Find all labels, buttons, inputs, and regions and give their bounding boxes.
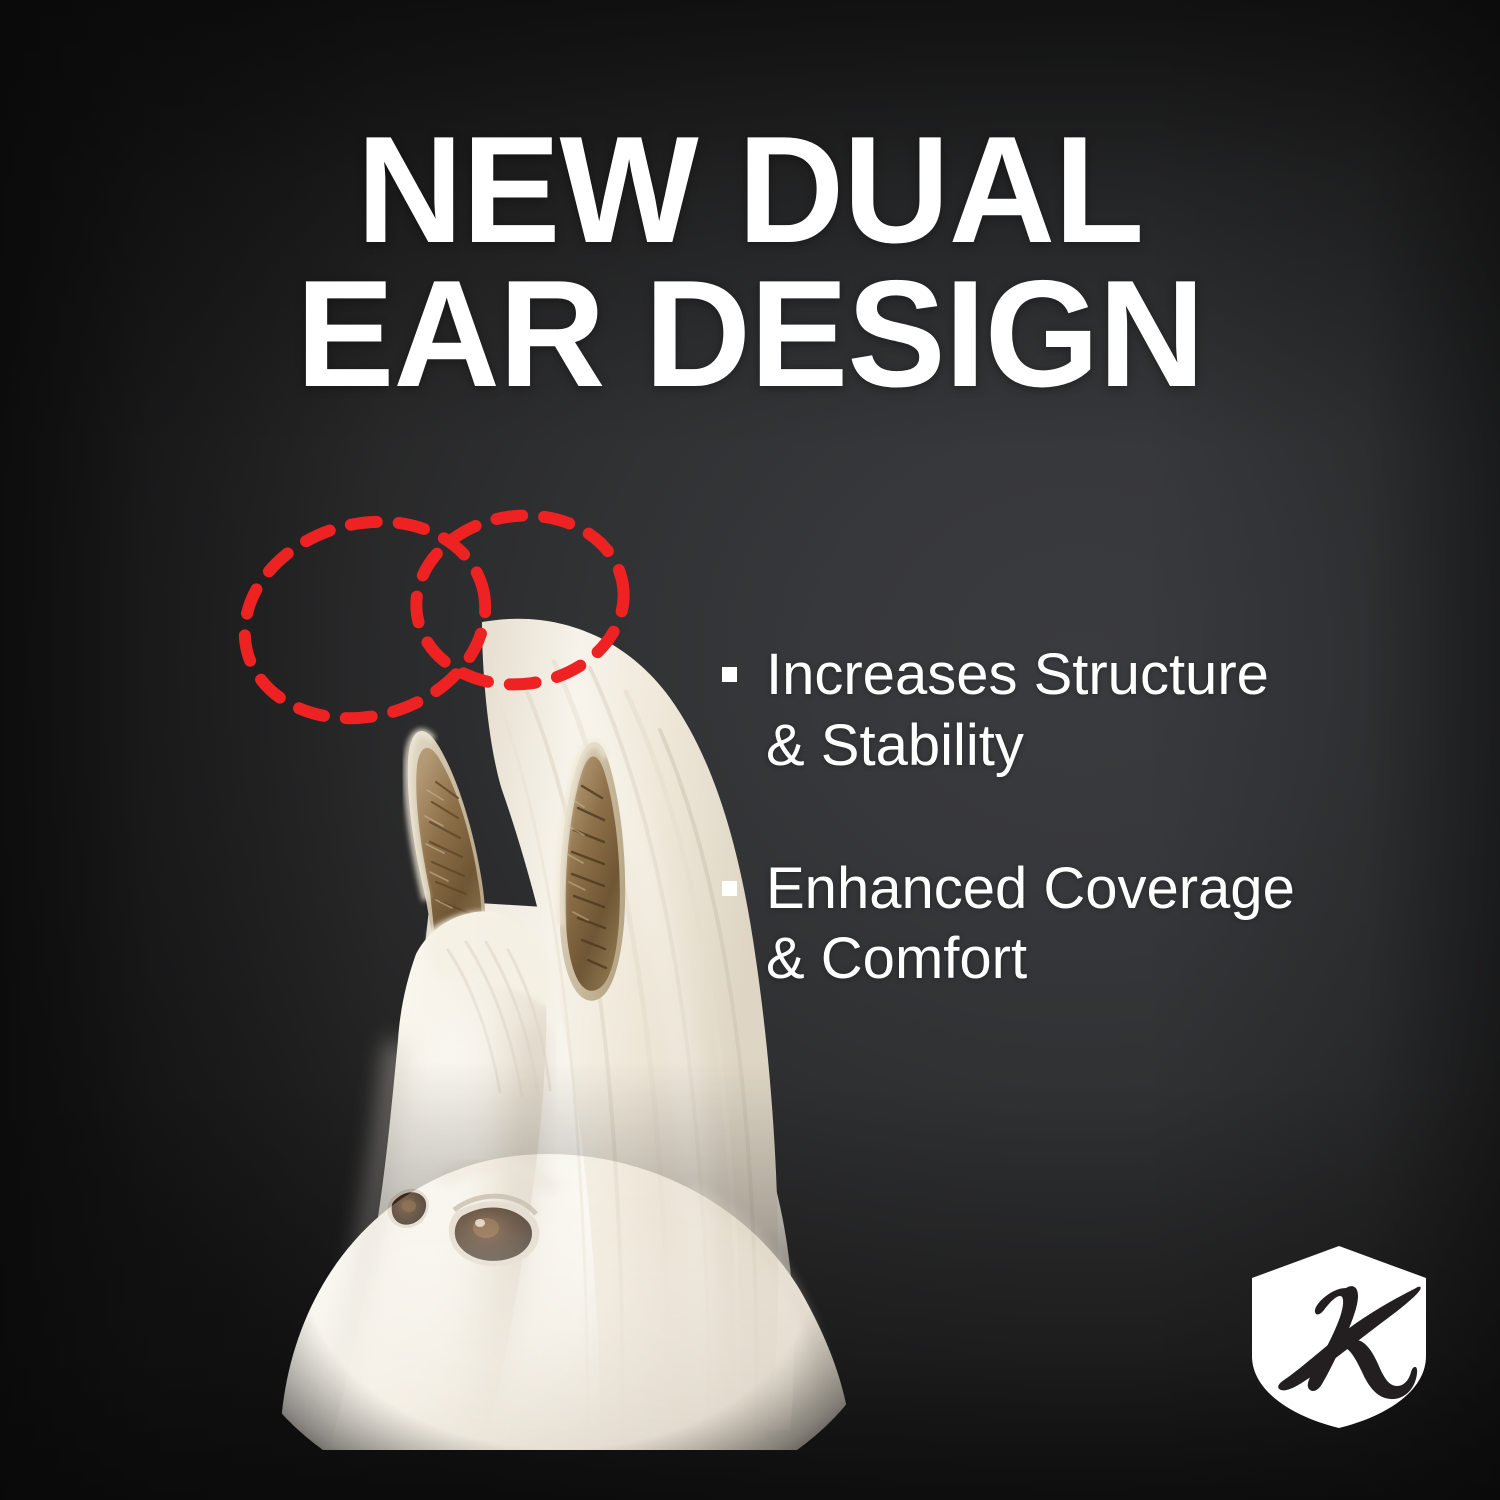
k-shield-logo (1248, 1244, 1430, 1430)
list-item-label: Enhanced Coverage & Comfort (766, 854, 1295, 996)
square-bullet-icon (722, 881, 737, 896)
page-title: NEW DUAL EAR DESIGN (23, 118, 1478, 407)
poster-canvas: NEW DUAL EAR DESIGN (0, 0, 1500, 1500)
list-item-label: Increases Structure & Stability (766, 640, 1269, 782)
list-item: Enhanced Coverage & Comfort (722, 854, 1422, 996)
list-item: Increases Structure & Stability (722, 640, 1422, 782)
feature-list: Increases Structure & Stability Enhanced… (722, 640, 1422, 1067)
square-bullet-icon (722, 667, 737, 682)
